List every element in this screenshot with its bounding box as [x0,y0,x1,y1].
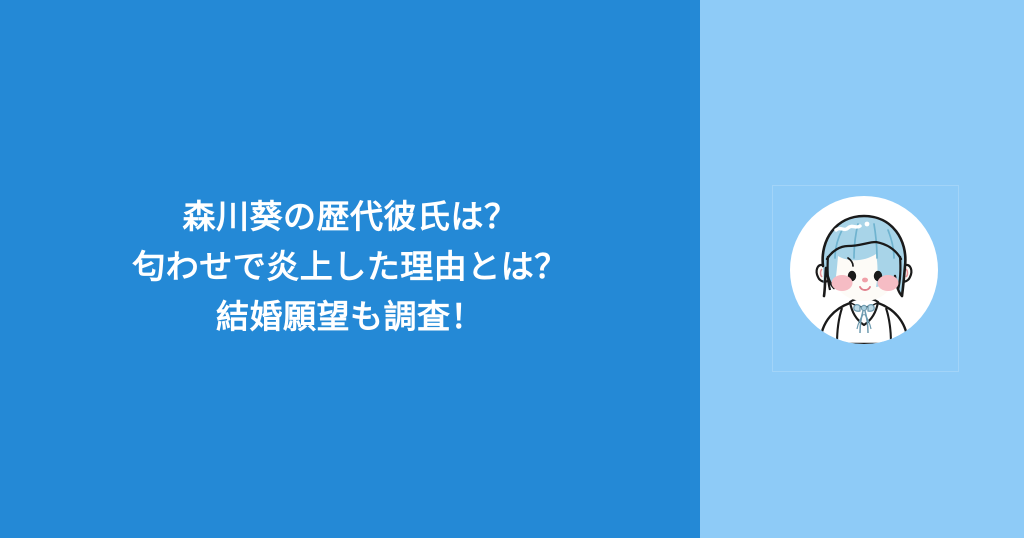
page-title: 森川葵の歴代彼氏は？ 匂わせで炎上した理由とは？ 結婚願望も調査！ [0,192,700,346]
avatar-panel [700,0,1024,538]
title-line-2: 匂わせで炎上した理由とは？ [0,242,700,292]
title-line-3: 結婚願望も調査！ [0,292,700,342]
eyecatch-banner: 森川葵の歴代彼氏は？ 匂わせで炎上した理由とは？ 結婚願望も調査！ [0,0,1024,538]
title-panel: 森川葵の歴代彼氏は？ 匂わせで炎上した理由とは？ 結婚願望も調査！ [0,0,700,538]
girl-avatar-icon [790,196,938,344]
title-line-1: 森川葵の歴代彼氏は？ [0,192,700,242]
